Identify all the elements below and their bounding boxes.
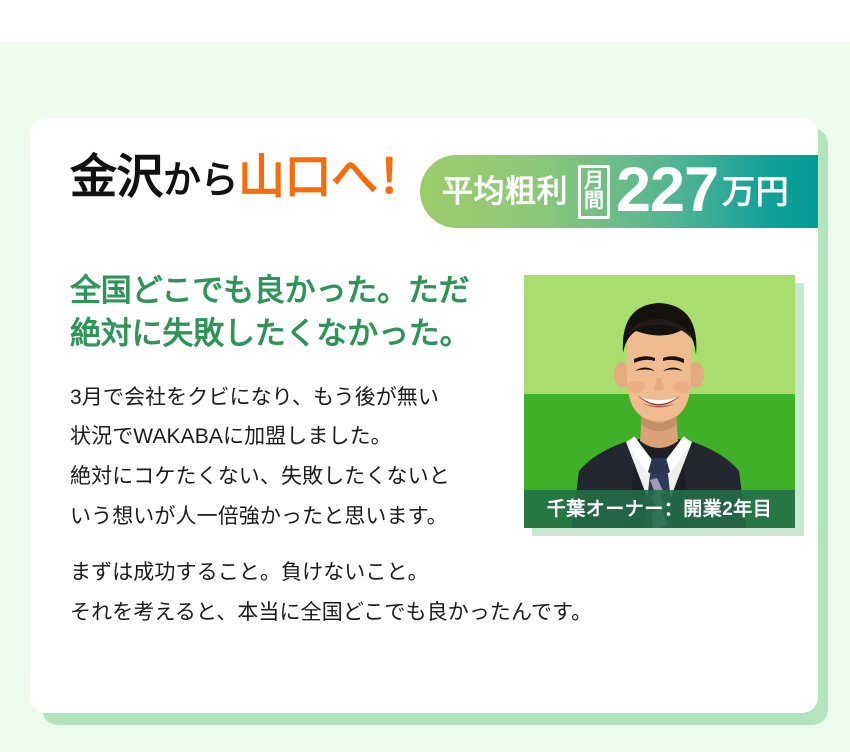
badge-period-box: 月 間 <box>578 165 610 219</box>
paragraph-2-line-1: まずは成功すること。負けないこと。 <box>70 553 540 593</box>
page-root: 金沢から山口へ！ 平均粗利 月 間 227 万円 全国どこでも良かった。ただ 絶… <box>0 0 850 752</box>
paragraph-1-line-1: 3月で会社をクビになり、もう後が無い <box>70 378 540 418</box>
paragraph-2-line-2: それを考えると、本当に全国どこでも良かったんです。 <box>70 593 540 633</box>
owner-photo: 千葉オーナー：開業2年目 <box>524 275 795 528</box>
testimonial-text-column: 全国どこでも良かった。ただ 絶対に失敗したくなかった。 3月で会社をクビになり、… <box>70 270 540 633</box>
paragraph-1-line-2: 状況でWAKABAに加盟しました。 <box>70 417 540 457</box>
paragraph-1-line-3: 絶対にコケたくない、失敗したくないと <box>70 457 540 497</box>
page-title: 金沢から山口へ！ <box>70 155 424 202</box>
badge-amount: 227 <box>616 159 718 222</box>
lede-line-1: 全国どこでも良かった。ただ <box>70 270 540 313</box>
card-header: 金沢から山口へ！ 平均粗利 月 間 227 万円 <box>30 118 818 248</box>
headline-destination: 山口へ！ <box>238 152 424 204</box>
paragraph-1-line-4: いう想いが人一倍強かったと思います。 <box>70 497 540 537</box>
photo-caption: 千葉オーナー：開業2年目 <box>547 500 773 519</box>
headline-particle: から <box>163 160 238 202</box>
badge-period-line2: 間 <box>584 192 604 212</box>
headline-origin: 金沢 <box>70 152 163 204</box>
testimonial-paragraph-1: 3月で会社をクビになり、もう後が無い 状況でWAKABAに加盟しました。 絶対に… <box>70 378 540 538</box>
testimonial-card: 金沢から山口へ！ 平均粗利 月 間 227 万円 全国どこでも良かった。ただ 絶… <box>30 118 818 713</box>
profit-badge: 平均粗利 月 間 227 万円 <box>420 155 818 228</box>
badge-unit: 万円 <box>722 175 789 208</box>
lede-line-2: 絶対に失敗したくなかった。 <box>70 313 540 356</box>
photo-caption-bar: 千葉オーナー：開業2年目 <box>524 490 795 528</box>
testimonial-paragraph-2: まずは成功すること。負けないこと。 それを考えると、本当に全国どこでも良かったん… <box>70 553 540 633</box>
lede-heading: 全国どこでも良かった。ただ 絶対に失敗したくなかった。 <box>70 270 540 356</box>
badge-label: 平均粗利 <box>442 176 568 207</box>
